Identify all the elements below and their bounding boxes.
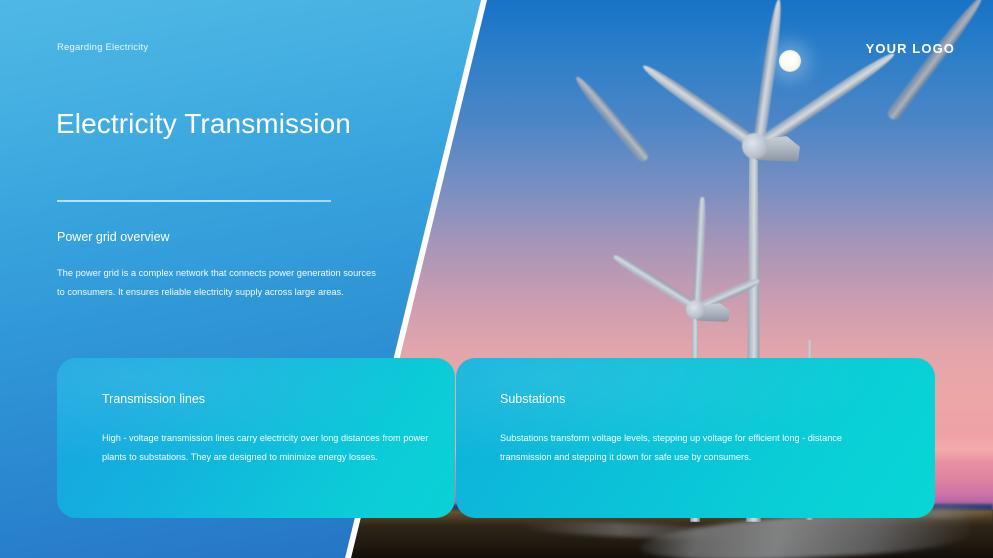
card-title: Substations <box>500 392 565 406</box>
eyebrow-label: Regarding Electricity <box>57 42 148 53</box>
card-title: Transmission lines <box>102 392 205 406</box>
moon-icon <box>779 50 801 72</box>
logo-text: YOUR LOGO <box>866 41 955 56</box>
title-divider <box>57 200 331 202</box>
presentation-slide: Regarding Electricity Electricity Transm… <box>0 0 993 558</box>
section-body-text: The power grid is a complex network that… <box>57 264 377 302</box>
info-card-substations[interactable]: Substations Substations transform voltag… <box>456 358 935 518</box>
page-title: Electricity Transmission <box>56 108 351 140</box>
card-body-text: High - voltage transmission lines carry … <box>102 429 432 467</box>
section-subheading: Power grid overview <box>57 230 170 244</box>
turbine-hub <box>686 300 705 319</box>
turbine-hub <box>742 133 768 159</box>
info-card-transmission-lines[interactable]: Transmission lines High - voltage transm… <box>57 358 455 518</box>
card-body-text: Substations transform voltage levels, st… <box>500 429 880 467</box>
